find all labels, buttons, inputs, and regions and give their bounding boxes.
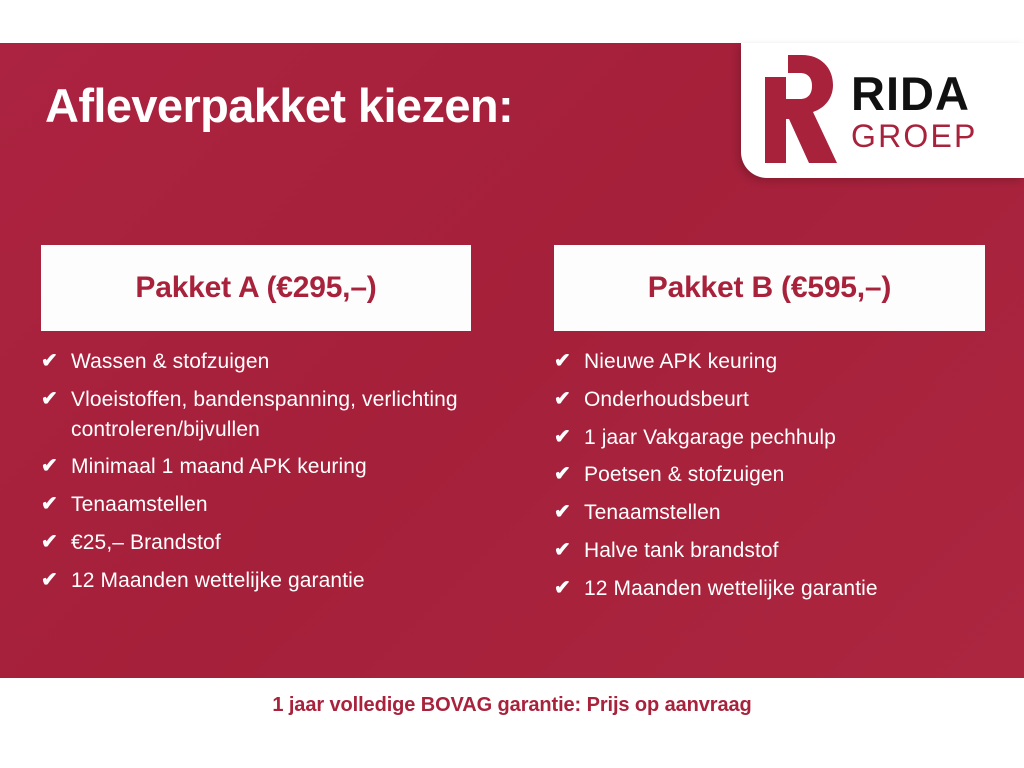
package-a-feature-list: ✔ Wassen & stofzuigen ✔ Vloeistoffen, ba…	[41, 347, 471, 596]
check-icon: ✔	[41, 452, 71, 480]
package-column-b: Pakket B (€595,–) ✔ Nieuwe APK keuring ✔…	[554, 245, 985, 612]
page-title: Afleverpakket kiezen:	[45, 78, 513, 133]
list-item: ✔ Minimaal 1 maand APK keuring	[41, 452, 471, 482]
check-icon: ✔	[554, 423, 584, 451]
list-item: ✔ €25,– Brandstof	[41, 528, 471, 558]
list-item-label: 1 jaar Vakgarage pechhulp	[584, 423, 985, 453]
list-item-label: Wassen & stofzuigen	[71, 347, 471, 377]
list-item-label: €25,– Brandstof	[71, 528, 471, 558]
package-a-title: Pakket A (€295,–)	[135, 271, 376, 305]
package-b-title: Pakket B (€595,–)	[648, 271, 891, 305]
list-item: ✔ Vloeistoffen, bandenspanning, verlicht…	[41, 385, 471, 445]
list-item: ✔ Tenaamstellen	[554, 498, 985, 528]
check-icon: ✔	[554, 498, 584, 526]
list-item-label: Tenaamstellen	[584, 498, 985, 528]
list-item: ✔ Onderhoudsbeurt	[554, 385, 985, 415]
logo-secondary-word: GROEP	[851, 120, 978, 152]
check-icon: ✔	[554, 536, 584, 564]
package-column-a: Pakket A (€295,–) ✔ Wassen & stofzuigen …	[41, 245, 471, 604]
check-icon: ✔	[554, 574, 584, 602]
list-item: ✔ 12 Maanden wettelijke garantie	[41, 566, 471, 596]
package-b-title-box: Pakket B (€595,–)	[554, 245, 985, 331]
check-icon: ✔	[41, 566, 71, 594]
brand-logo-plate: RIDA GROEP	[741, 43, 1024, 178]
list-item: ✔ Halve tank brandstof	[554, 536, 985, 566]
list-item-label: 12 Maanden wettelijke garantie	[584, 574, 985, 604]
check-icon: ✔	[41, 385, 71, 413]
check-icon: ✔	[41, 528, 71, 556]
list-item: ✔ 1 jaar Vakgarage pechhulp	[554, 423, 985, 453]
list-item-label: Nieuwe APK keuring	[584, 347, 985, 377]
package-a-title-box: Pakket A (€295,–)	[41, 245, 471, 331]
slide-root: RIDA GROEP Afleverpakket kiezen: Pakket …	[0, 0, 1024, 768]
list-item-label: Poetsen & stofzuigen	[584, 460, 985, 490]
logo-primary-word: RIDA	[851, 70, 978, 117]
check-icon: ✔	[41, 347, 71, 375]
list-item: ✔ Poetsen & stofzuigen	[554, 460, 985, 490]
check-icon: ✔	[554, 385, 584, 413]
list-item-label: Onderhoudsbeurt	[584, 385, 985, 415]
list-item-label: Halve tank brandstof	[584, 536, 985, 566]
list-item-label: Tenaamstellen	[71, 490, 471, 520]
package-b-feature-list: ✔ Nieuwe APK keuring ✔ Onderhoudsbeurt ✔…	[554, 347, 985, 604]
list-item-label: 12 Maanden wettelijke garantie	[71, 566, 471, 596]
list-item-label: Vloeistoffen, bandenspanning, verlichtin…	[71, 385, 471, 445]
footer-guarantee-text: 1 jaar volledige BOVAG garantie: Prijs o…	[272, 694, 751, 717]
list-item: ✔ Tenaamstellen	[41, 490, 471, 520]
footer-bar: 1 jaar volledige BOVAG garantie: Prijs o…	[0, 678, 1024, 768]
check-icon: ✔	[41, 490, 71, 518]
list-item-label: Minimaal 1 maand APK keuring	[71, 452, 471, 482]
list-item: ✔ Nieuwe APK keuring	[554, 347, 985, 377]
check-icon: ✔	[554, 347, 584, 375]
list-item: ✔ Wassen & stofzuigen	[41, 347, 471, 377]
check-icon: ✔	[554, 460, 584, 488]
rida-r-monogram-icon	[755, 49, 841, 169]
logo-wordmark: RIDA GROEP	[851, 70, 978, 152]
list-item: ✔ 12 Maanden wettelijke garantie	[554, 574, 985, 604]
